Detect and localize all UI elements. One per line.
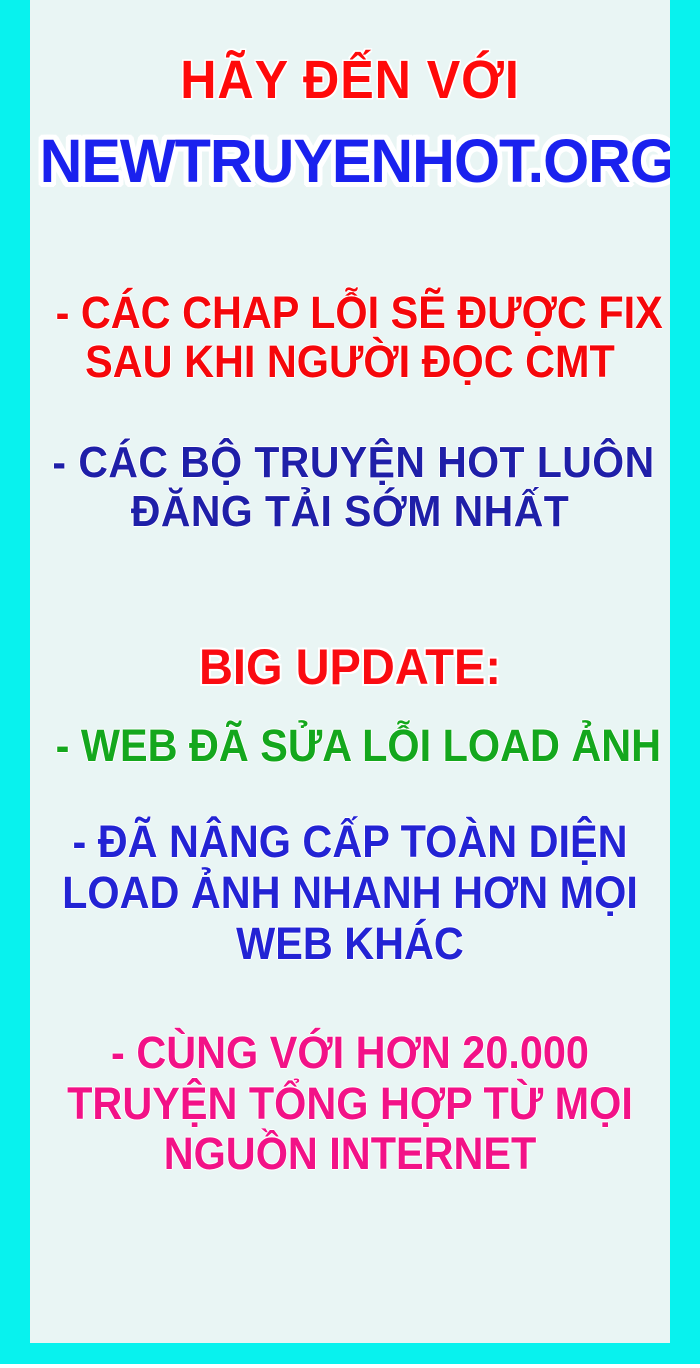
site-url-text[interactable]: NEWTRUYENHOT.ORG: [40, 130, 661, 193]
hot-series-note-line-2: ĐĂNG TẢI SỚM NHẤT: [52, 489, 647, 535]
right-cyan-border: [670, 0, 700, 1364]
full-upgrade-note: - ĐÃ NÂNG CẤP TOÀN DIỆN LOAD ẢNH NHANH H…: [30, 819, 670, 967]
hot-series-note-line-1: - CÁC BỘ TRUYỆN HOT LUÔN: [52, 440, 647, 486]
story-count-note-line-3: NGUỒN INTERNET: [56, 1131, 645, 1178]
bottom-cyan-border: [0, 1343, 700, 1364]
headline-welcome: HÃY ĐẾN VỚI: [52, 52, 647, 108]
story-count-note-line-1: - CÙNG VỚI HƠN 20.000: [56, 1030, 645, 1077]
big-update-heading: BIG UPDATE:: [30, 641, 670, 693]
chapter-fix-note-line-1: - CÁC CHAP LỖI SẼ ĐƯỢC FIX: [56, 290, 645, 337]
banner-surface: HÃY ĐẾN VỚI NEWTRUYENHOT.ORG - CÁC CHAP …: [30, 0, 670, 1343]
full-upgrade-note-line-3: WEB KHÁC: [56, 921, 645, 968]
story-count-note-line-2: TRUYỆN TỔNG HỢP TỪ MỌI: [56, 1081, 645, 1128]
hot-series-note: - CÁC BỘ TRUYỆN HOT LUÔN ĐĂNG TẢI SỚM NH…: [30, 440, 670, 535]
big-update-heading-text: BIG UPDATE:: [49, 641, 651, 693]
image-load-fix-note-line-1: - WEB ĐÃ SỬA LỖI LOAD ẢNH: [56, 723, 645, 770]
chapter-fix-note-line-2: SAU KHI NGƯỜI ĐỌC CMT: [56, 339, 645, 386]
full-upgrade-note-line-2: LOAD ẢNH NHANH HƠN MỌI: [56, 870, 645, 917]
image-load-fix-note: - WEB ĐÃ SỬA LỖI LOAD ẢNH: [30, 723, 670, 770]
story-count-note: - CÙNG VỚI HƠN 20.000 TRUYỆN TỔNG HỢP TỪ…: [30, 1030, 670, 1178]
full-upgrade-note-line-1: - ĐÃ NÂNG CẤP TOÀN DIỆN: [56, 819, 645, 866]
announcement-banner: HÃY ĐẾN VỚI NEWTRUYENHOT.ORG - CÁC CHAP …: [0, 0, 700, 1368]
left-cyan-border: [0, 0, 30, 1364]
chapter-fix-note: - CÁC CHAP LỖI SẼ ĐƯỢC FIX SAU KHI NGƯỜI…: [30, 290, 670, 387]
